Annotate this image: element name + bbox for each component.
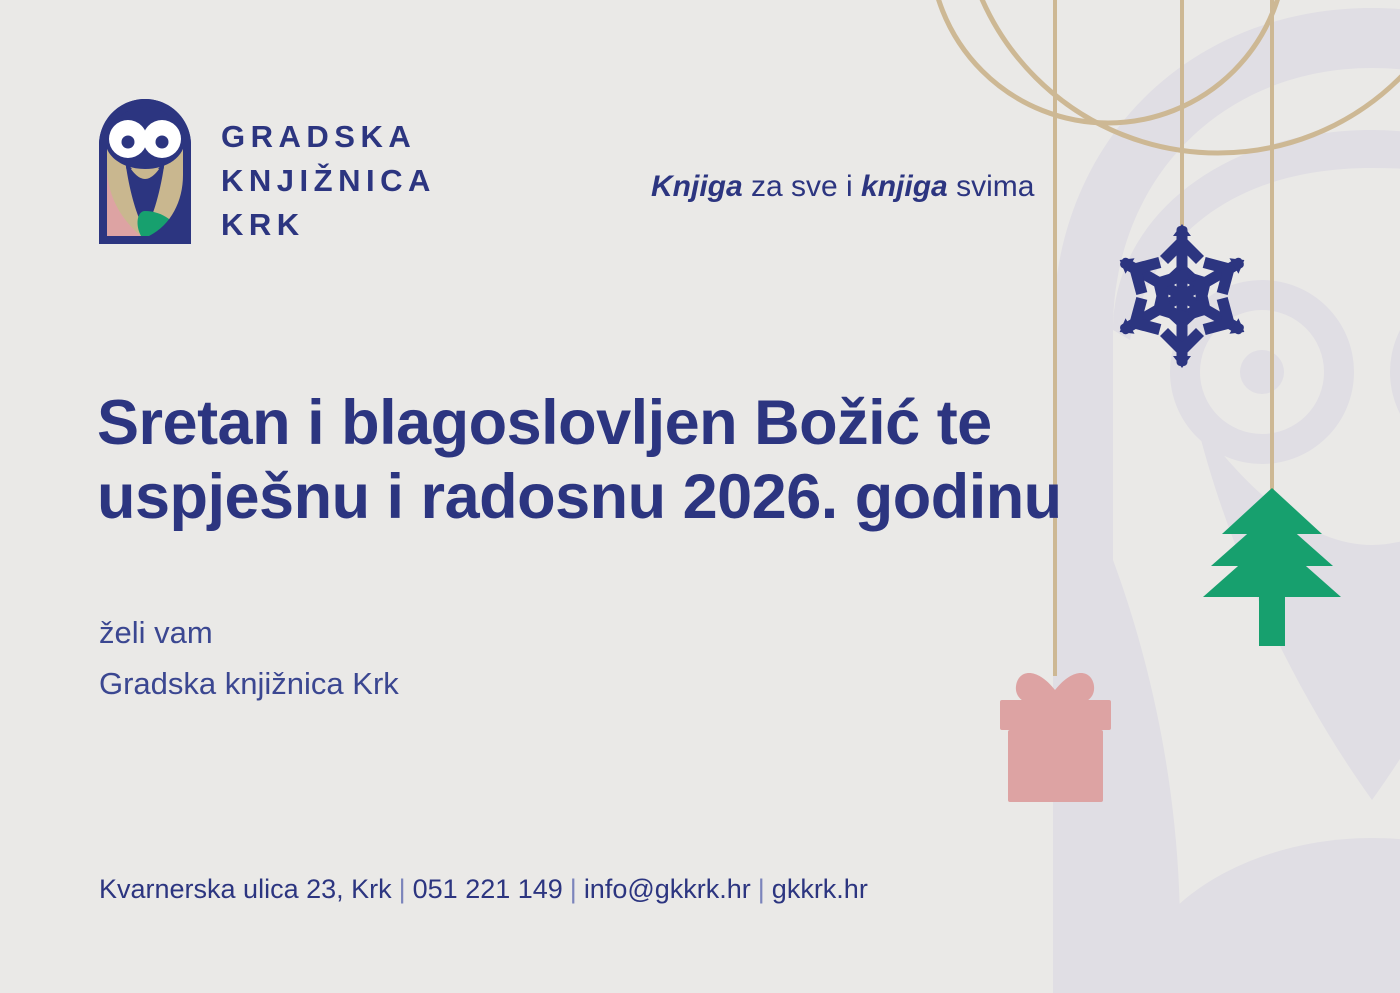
snowflake-ornament bbox=[1107, 224, 1258, 368]
greeting-card: GRADSKA KNJIŽNICA KRK Knjiga za sve i kn… bbox=[0, 0, 1400, 993]
greeting-signature: želi vam Gradska knjižnica Krk bbox=[99, 607, 399, 709]
footer-email[interactable]: info@gkkrk.hr bbox=[584, 874, 751, 904]
brand-tagline: Knjiga za sve i knjiga svima bbox=[651, 168, 1034, 206]
gold-arc-left bbox=[930, 0, 1286, 123]
footer-separator-1: | bbox=[392, 874, 413, 904]
tagline-plain-1: za sve i bbox=[743, 170, 861, 203]
footer-contact-line: Kvarnerska ulica 23, Krk|051 221 149|inf… bbox=[99, 872, 868, 906]
footer-address: Kvarnerska ulica 23, Krk bbox=[99, 874, 392, 904]
footer-separator-3: | bbox=[751, 874, 772, 904]
gift-box-ornament bbox=[1000, 673, 1111, 802]
footer-website[interactable]: gkkrk.hr bbox=[772, 874, 868, 904]
footer-phone[interactable]: 051 221 149 bbox=[413, 874, 563, 904]
tagline-plain-2: svima bbox=[948, 170, 1035, 203]
owl-logo-icon bbox=[99, 99, 191, 244]
greeting-headline: Sretan i blagoslovljen Božić te uspješnu… bbox=[97, 386, 1277, 534]
tagline-emphasis-2: knjiga bbox=[861, 170, 948, 203]
tagline-emphasis-1: Knjiga bbox=[651, 170, 743, 203]
brand-wordmark: GRADSKA KNJIŽNICA KRK bbox=[221, 99, 436, 247]
gold-arc-right bbox=[960, 0, 1400, 153]
footer-separator-2: | bbox=[563, 874, 584, 904]
brand-logo-block: GRADSKA KNJIŽNICA KRK bbox=[99, 99, 436, 247]
